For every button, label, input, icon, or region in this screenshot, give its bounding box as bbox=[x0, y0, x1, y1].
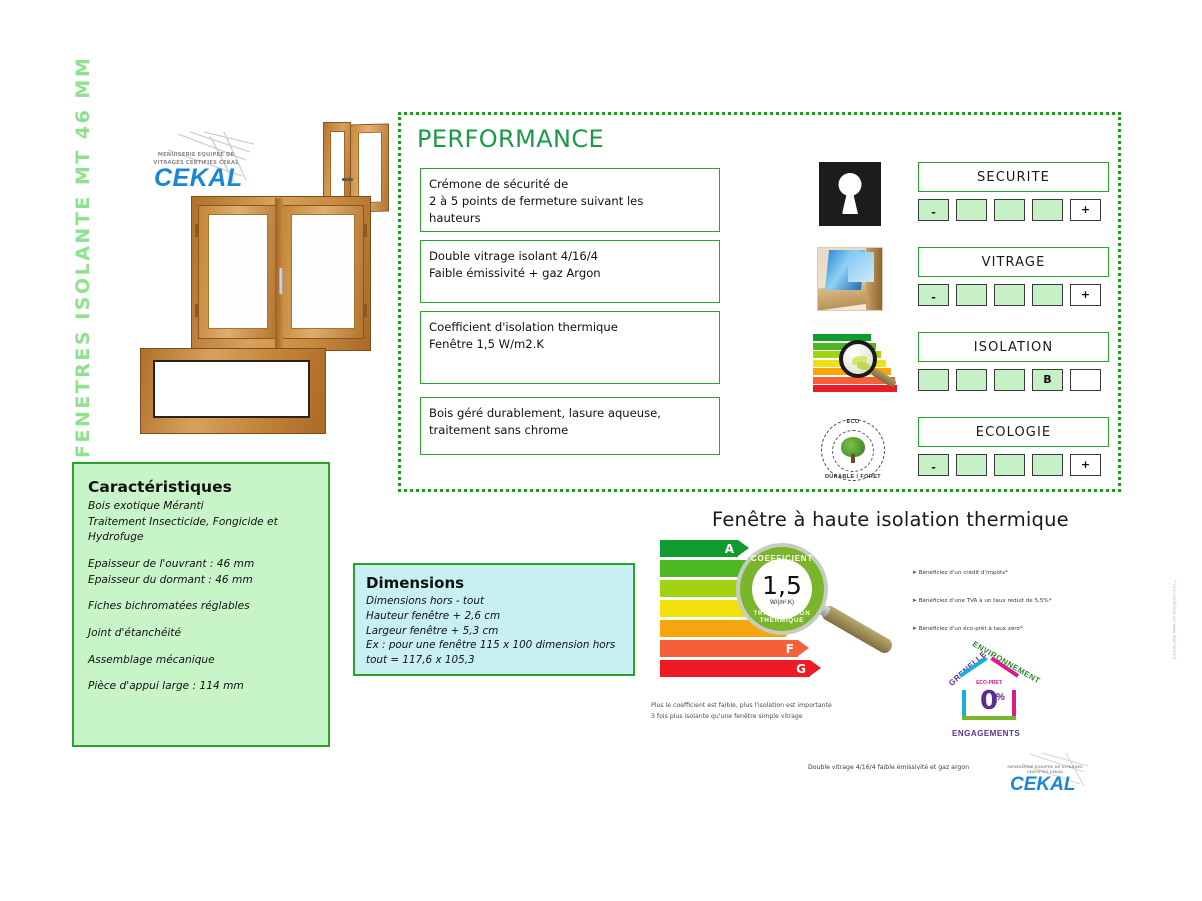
energy-caption-line: Plus le coefficient est faible, plus l'i… bbox=[651, 701, 911, 712]
energy-caption: Plus le coefficient est faible, plus l'i… bbox=[651, 701, 911, 722]
dimensions-line: Hauteur fenêtre + 2,6 cm bbox=[366, 609, 622, 624]
cekal-logo-bottom: MENUISERIE EQUIPEE DE VITRAGES CERTIFIES… bbox=[1000, 752, 1092, 798]
energy-caption-line: 3 fois plus isolante qu'une fenêtre simp… bbox=[651, 712, 911, 723]
performance-feature-item: Double vitrage isolant 4/16/4 Faible émi… bbox=[420, 240, 720, 303]
caracteristiques-line: Fiches bichromatées réglables bbox=[88, 599, 314, 615]
thermal-title: Fenêtre à haute isolation thermique bbox=[712, 508, 1069, 531]
caracteristiques-title: Caractéristiques bbox=[88, 478, 314, 496]
caracteristiques-line: Joint d'étanchéité bbox=[88, 626, 314, 642]
coefficient-unit: W/(m².K) bbox=[770, 600, 794, 606]
eco-tree-stamp-icon: ECO DURABLE / FORET bbox=[813, 417, 903, 489]
cekal-logo-name: CEKAL bbox=[154, 164, 243, 193]
dimensions-line: Dimensions hors - tout bbox=[366, 594, 622, 609]
feature-line: Double vitrage isolant 4/16/4 bbox=[429, 248, 711, 265]
rating-row-vitrage: VITRAGE - + bbox=[813, 247, 1109, 319]
rating-square[interactable] bbox=[956, 199, 987, 221]
eco-pret-percent: % bbox=[996, 692, 1005, 703]
rating-label-vitrage: VITRAGE bbox=[918, 247, 1109, 277]
energy-letter: G bbox=[796, 662, 806, 676]
coefficient-arc-top: COEFFICIENT bbox=[736, 554, 828, 563]
rating-squares-securite: - + bbox=[918, 199, 1109, 221]
rating-squares-ecologie: - + bbox=[918, 454, 1109, 476]
rating-square[interactable]: - bbox=[918, 199, 949, 221]
window-glazing-icon bbox=[813, 247, 903, 319]
rating-square[interactable] bbox=[994, 199, 1025, 221]
feature-line: Coefficient d'isolation thermique bbox=[429, 319, 711, 336]
rating-square[interactable]: + bbox=[1070, 454, 1101, 476]
rating-label-isolation: ISOLATION bbox=[918, 332, 1109, 362]
rating-square[interactable] bbox=[918, 369, 949, 391]
keyhole-icon bbox=[813, 162, 903, 234]
energy-bar-f: F bbox=[660, 640, 890, 657]
rating-square[interactable] bbox=[956, 284, 987, 306]
performance-panel: PERFORMANCE Crémone de sécurité de 2 à 5… bbox=[398, 112, 1121, 492]
feature-line: Crémone de sécurité de bbox=[429, 176, 711, 193]
rating-square[interactable] bbox=[1032, 284, 1063, 306]
rating-row-ecologie: ECO DURABLE / FORET ECOLOGIE - + bbox=[813, 417, 1109, 489]
energy-letter: F bbox=[786, 642, 794, 656]
feature-line: 2 à 5 points de fermeture suivant les bbox=[429, 193, 711, 210]
benefit-item: ➤Bénéficiez d'un crédit d'impôts* bbox=[912, 570, 1092, 576]
rating-square[interactable] bbox=[994, 369, 1025, 391]
dimensions-box: Dimensions Dimensions hors - tout Hauteu… bbox=[353, 563, 635, 676]
feature-line: Fenêtre 1,5 W/m2.K bbox=[429, 336, 711, 353]
rating-square[interactable] bbox=[1070, 369, 1101, 391]
benefit-item: ➤Bénéficiez d'une TVA à un taux réduit d… bbox=[912, 598, 1092, 604]
rating-square[interactable] bbox=[1032, 454, 1063, 476]
energy-magnifier-icon bbox=[813, 332, 903, 404]
performance-feature-list: Crémone de sécurité de 2 à 5 points de f… bbox=[420, 168, 720, 463]
benefit-text: Bénéficiez d'un éco-prêt à taux zéro* bbox=[919, 626, 1023, 632]
benefits-list: ➤Bénéficiez d'un crédit d'impôts* ➤Bénéf… bbox=[912, 570, 1092, 654]
benefit-text: Bénéficiez d'un crédit d'impôts* bbox=[919, 570, 1008, 576]
performance-feature-item: Bois géré durablement, lasure aqueuse, t… bbox=[420, 397, 720, 455]
rating-squares-isolation: B bbox=[918, 369, 1109, 391]
caracteristiques-line: Bois exotique Méranti bbox=[88, 499, 314, 515]
cekal-logo-name: CEKAL bbox=[1010, 774, 1075, 796]
cekal-logo: MENUISERIE EQUIPEE DE VITRAGES CERTIFIES… bbox=[138, 130, 256, 198]
dimensions-line: Largeur fenêtre + 5,3 cm bbox=[366, 624, 622, 639]
caracteristiques-line: Assemblage mécanique bbox=[88, 653, 314, 669]
caracteristiques-line: Hydrofuge bbox=[88, 530, 314, 546]
energy-bar-g: G bbox=[660, 660, 890, 677]
feature-line: Faible émissivité + gaz Argon bbox=[429, 265, 711, 282]
bottom-note: Double vitrage 4/16/4 faible émissivité … bbox=[808, 764, 969, 771]
caracteristiques-line: Epaisseur du dormant : 46 mm bbox=[88, 573, 314, 589]
dimensions-line: Ex : pour une fenêtre 115 x 100 dimensio… bbox=[366, 638, 622, 653]
rating-square[interactable] bbox=[956, 369, 987, 391]
rating-square[interactable]: - bbox=[918, 454, 949, 476]
caracteristiques-line: Pièce d'appui large : 114 mm bbox=[88, 679, 314, 695]
caracteristiques-box: Caractéristiques Bois exotique Méranti T… bbox=[72, 462, 330, 747]
rating-square[interactable] bbox=[956, 454, 987, 476]
caracteristiques-line: Traitement Insecticide, Fongicide et bbox=[88, 515, 314, 531]
poster-page: FENETRES ISOLANTE MT 46 MM MENUISERIE EQ… bbox=[0, 0, 1202, 901]
feature-line: Bois géré durablement, lasure aqueuse, bbox=[429, 405, 711, 422]
feature-line: hauteurs bbox=[429, 210, 711, 227]
rating-square[interactable]: + bbox=[1070, 199, 1101, 221]
rating-row-isolation: ISOLATION B bbox=[813, 332, 1109, 404]
fine-print-vertical: * voir conditions sur www.legifrance.fr bbox=[1087, 580, 1177, 660]
rating-square[interactable]: + bbox=[1070, 284, 1101, 306]
side-title: FENETRES ISOLANTE MT 46 MM bbox=[72, 128, 102, 458]
benefit-item: ➤Bénéficiez d'un éco-prêt à taux zéro* bbox=[912, 626, 1092, 632]
window-photo-transom bbox=[140, 348, 326, 434]
rating-square[interactable] bbox=[994, 284, 1025, 306]
energy-class-chart: A F G COEFFICIENT 1,5 bbox=[660, 540, 890, 690]
grenelle-house-icon: ECO-PRET 0 % bbox=[960, 674, 1018, 720]
rating-square[interactable] bbox=[1032, 199, 1063, 221]
benefit-text: Bénéficiez d'une TVA à un taux réduit de… bbox=[919, 598, 1052, 604]
caracteristiques-line: Epaisseur de l'ouvrant : 46 mm bbox=[88, 557, 314, 573]
performance-title: PERFORMANCE bbox=[417, 125, 604, 153]
performance-feature-item: Coefficient d'isolation thermique Fenêtr… bbox=[420, 311, 720, 384]
rating-squares-vitrage: - + bbox=[918, 284, 1109, 306]
grenelle-environnement-logo: GRENELLE ENVIRONNEMENT ENGAGEMENTS ECO-P… bbox=[938, 648, 1043, 748]
window-photo-double-casement bbox=[191, 196, 371, 351]
rating-row-securite: SECURITE - + bbox=[813, 162, 1109, 234]
feature-line: traitement sans chrome bbox=[429, 422, 711, 439]
dimensions-line: tout = 117,6 x 105,3 bbox=[366, 653, 622, 668]
energy-letter: A bbox=[725, 542, 734, 556]
coefficient-arc-bottom: TRANSMISSION THERMIQUE bbox=[736, 610, 828, 624]
coefficient-badge: COEFFICIENT 1,5 W/(m².K) TRANSMISSION TH… bbox=[736, 543, 828, 635]
rating-square[interactable] bbox=[994, 454, 1025, 476]
grenelle-word-bottom: ENGAGEMENTS bbox=[952, 729, 1020, 738]
performance-feature-item: Crémone de sécurité de 2 à 5 points de f… bbox=[420, 168, 720, 232]
rating-rows: SECURITE - + bbox=[813, 162, 1109, 502]
rating-label-securite: SECURITE bbox=[918, 162, 1109, 192]
rating-square[interactable]: - bbox=[918, 284, 949, 306]
coefficient-value: 1,5 bbox=[762, 573, 802, 598]
dimensions-title: Dimensions bbox=[366, 574, 622, 592]
rating-label-ecologie: ECOLOGIE bbox=[918, 417, 1109, 447]
rating-square-b[interactable]: B bbox=[1032, 369, 1063, 391]
